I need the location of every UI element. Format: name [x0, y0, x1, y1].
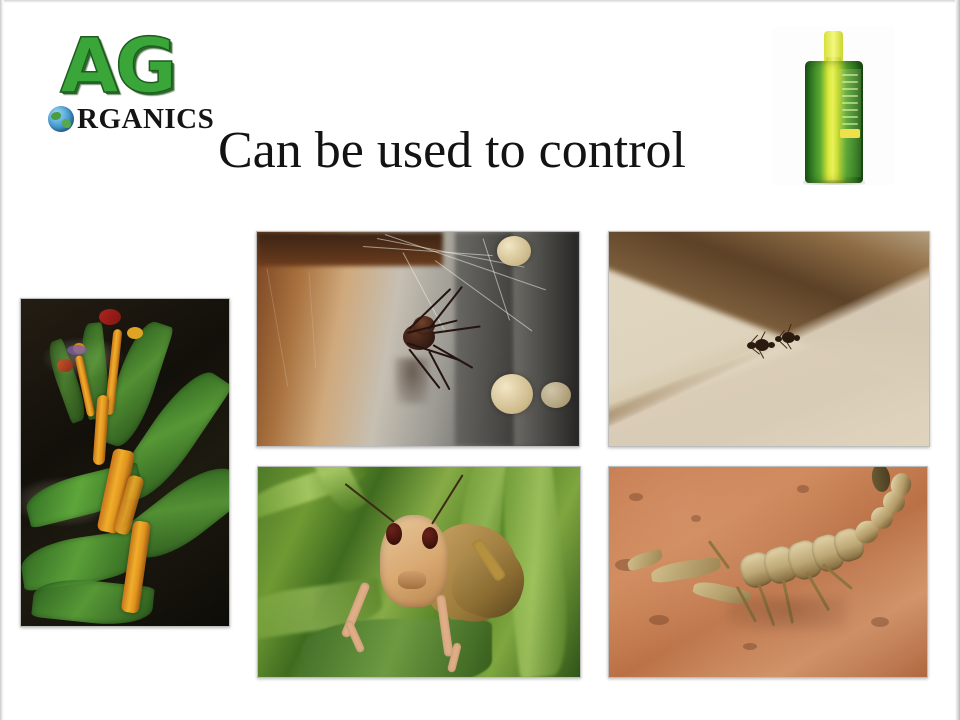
- slide-frame: AG RGANICS Can be used to control AGPRO: [0, 0, 960, 720]
- frame-edge-right: [955, 0, 960, 720]
- bottle-label-panel: [839, 69, 861, 177]
- bottle-body: AGPRO: [805, 61, 863, 183]
- ants-scene: [609, 232, 929, 446]
- photo-grasshopper: Grasshopper on leaf: [257, 466, 581, 678]
- photo-spider: Spider in web: [256, 231, 580, 447]
- aphids-scene: [21, 299, 229, 626]
- bottle-shadow: [803, 180, 865, 185]
- grasshopper-scene: [258, 467, 580, 677]
- bottle-label-badge: [840, 129, 860, 138]
- globe-icon: [48, 106, 74, 132]
- frame-edge-left: [0, 0, 4, 720]
- frame-edge-top: [0, 0, 960, 3]
- photo-aphids: Aphids on plant stem: [20, 298, 230, 627]
- logo-mark: AG: [48, 28, 208, 108]
- photo-ants: Ants on surface: [608, 231, 930, 447]
- product-bottle-image: AGPRO: [772, 27, 894, 185]
- logo-wordmark: RGANICS: [77, 105, 214, 134]
- photo-scorpion: Scorpion on sand: [608, 466, 928, 678]
- brand-logo: AG RGANICS: [48, 28, 208, 153]
- scorpion-scene: [609, 467, 927, 677]
- spider-scene: [257, 232, 579, 446]
- page-title: Can be used to control: [218, 123, 686, 179]
